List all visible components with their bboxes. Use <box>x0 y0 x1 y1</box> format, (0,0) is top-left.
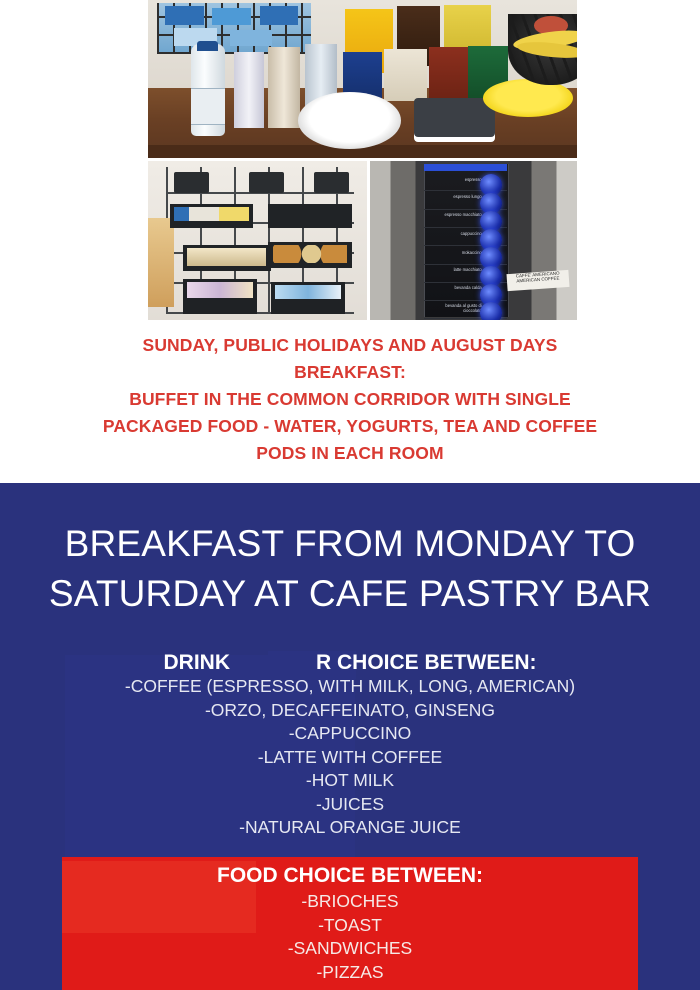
snack-bar-item <box>260 6 299 25</box>
title-line: SATURDAY AT CAFE PASTRY BAR <box>0 569 700 619</box>
list-item: -LATTE WITH COFFEE <box>0 746 700 770</box>
milk-carton <box>234 52 264 128</box>
hanging-bin <box>314 172 349 193</box>
milk-bottle-label <box>191 88 225 125</box>
notice-line: PODS IN EACH ROOM <box>0 440 700 467</box>
list-item: -ORZO, DECAFFEINATO, GINSENG <box>0 699 700 723</box>
panel-light-strip <box>424 164 507 170</box>
notice-line: SUNDAY, PUBLIC HOLIDAYS AND AUGUST DAYS <box>0 332 700 359</box>
coffee-option-label: bevanda calda <box>427 286 482 291</box>
title-line: BREAKFAST FROM MONDAY TO <box>0 519 700 569</box>
cereal-box <box>429 47 468 99</box>
yellow-lid <box>483 79 573 117</box>
coffee-select-button <box>480 302 502 320</box>
list-item: -BRIOCHES <box>62 890 638 914</box>
snack-bar-item <box>230 30 273 46</box>
cereal-box <box>384 49 427 101</box>
coffee-option-row: latte macchiato <box>424 264 507 283</box>
coffee-option-label: mokaccino <box>427 251 482 256</box>
milk-carton <box>268 47 300 128</box>
photo-pastry-display-rack <box>148 161 367 320</box>
snack-bar-item <box>212 8 251 25</box>
side-bread-stack <box>148 218 174 307</box>
coffee-option-row: mokaccino <box>424 245 507 264</box>
notice-line: PACKAGED FOOD - WATER, YOGURTS, TEA AND … <box>0 413 700 440</box>
photo-collage: espresso espresso lungo espresso macchia… <box>148 0 577 320</box>
drink-options-list: -COFFEE (ESPRESSO, WITH MILK, LONG, AMER… <box>0 675 700 840</box>
list-item: -NATURAL ORANGE JUICE <box>0 816 700 840</box>
list-item: -PIZZAS <box>62 961 638 985</box>
drink-heading-right: R CHOICE BETWEEN: <box>316 651 537 674</box>
photo-breakfast-buffet-table <box>148 0 577 158</box>
weekday-breakfast-title: BREAKFAST FROM MONDAY TO SATURDAY AT CAF… <box>0 519 700 619</box>
coffee-option-row: cappuccino <box>424 227 507 246</box>
packaged-snacks <box>174 207 248 221</box>
dark-tray <box>414 98 496 142</box>
notice-line: BREAKFAST: <box>0 359 700 386</box>
coffee-option-row: espresso lungo <box>424 190 507 209</box>
coffee-option-label: espresso macchiato <box>427 213 482 218</box>
milk-bottle-cap <box>197 41 218 50</box>
coffee-option-row: bevanda calda <box>424 282 507 301</box>
holiday-breakfast-notice: SUNDAY, PUBLIC HOLIDAYS AND AUGUST DAYS … <box>0 332 700 467</box>
food-choice-section: FOOD CHOICE BETWEEN: -BRIOCHES -TOAST -S… <box>62 857 638 990</box>
hanging-bin <box>174 172 209 193</box>
photo-coffee-machine: espresso espresso lungo espresso macchia… <box>370 161 577 320</box>
coffee-option-row: bevanda al gusto di cioccolato <box>424 300 507 319</box>
packaged-snacks <box>275 285 341 299</box>
pastries <box>273 245 347 262</box>
coffee-option-label: espresso <box>427 178 482 183</box>
coffee-option-label: espresso lungo <box>427 195 482 200</box>
drink-choice-heading: DRINKR CHOICE BETWEEN: <box>0 650 700 676</box>
list-item: -CAPPUCCINO <box>0 722 700 746</box>
coffee-option-label: cappuccino <box>427 232 482 237</box>
food-choice-heading: FOOD CHOICE BETWEEN: <box>62 863 638 889</box>
coffee-option-label: latte macchiato <box>427 268 482 273</box>
stack-of-plates <box>298 92 401 149</box>
food-options-list: -BRIOCHES -TOAST -SANDWICHES -PIZZAS <box>62 890 638 984</box>
sandwiches <box>187 248 266 265</box>
list-item: -JUICES <box>0 793 700 817</box>
hanging-bin <box>249 172 284 193</box>
packaged-snacks <box>187 282 253 298</box>
drink-heading-left: DRINK <box>164 651 231 674</box>
list-item: -COFFEE (ESPRESSO, WITH MILK, LONG, AMER… <box>0 675 700 699</box>
list-item: -SANDWICHES <box>62 937 638 961</box>
notice-line: BUFFET IN THE COMMON CORRIDOR WITH SINGL… <box>0 386 700 413</box>
coffee-option-row: espresso <box>424 172 507 191</box>
snack-bar-item <box>165 6 204 25</box>
list-item: -HOT MILK <box>0 769 700 793</box>
bread-rolls <box>273 209 347 223</box>
coffee-option-label: bevanda al gusto di cioccolato <box>427 304 482 314</box>
coffee-option-row: espresso macchiato <box>424 209 507 228</box>
list-item: -TOAST <box>62 914 638 938</box>
